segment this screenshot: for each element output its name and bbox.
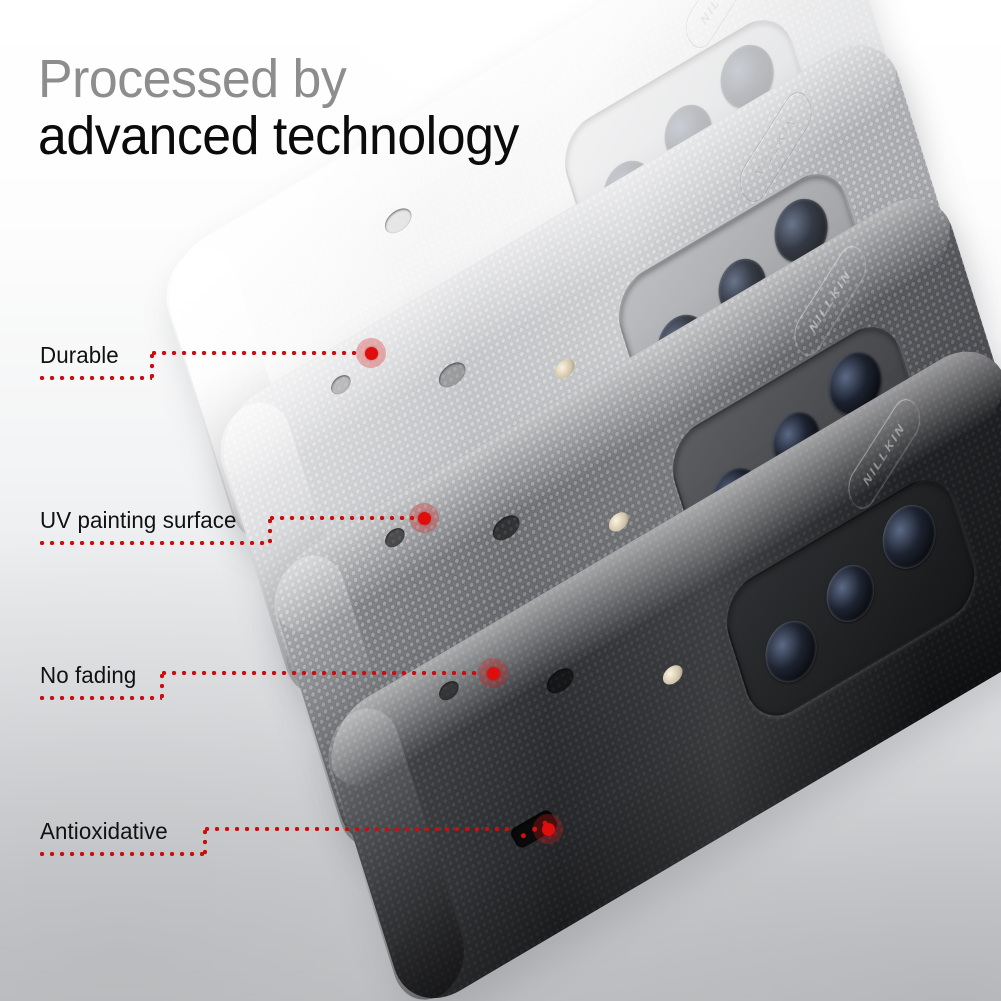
callout-underline [40, 541, 270, 545]
callout-underline [40, 696, 162, 700]
callout-marker [409, 503, 439, 533]
callout-leader-line [270, 516, 414, 520]
product-feature-graphic: NILLKIN NILLKIN [0, 0, 1001, 1001]
callout-marker [533, 814, 563, 844]
callout-underline [40, 852, 205, 856]
callout-label: UV painting surface [40, 507, 237, 534]
callout-elbow-vertical [150, 354, 154, 380]
callout-label: No fading [40, 662, 136, 689]
callout-leader-line [205, 827, 535, 831]
callout-elbow-vertical [268, 519, 272, 545]
callout-elbow-vertical [160, 674, 164, 700]
callout-marker [478, 658, 508, 688]
callout-label: Antioxidative [40, 818, 168, 845]
grille-dot [520, 832, 527, 839]
callout-leader-line [162, 671, 482, 675]
feature-callouts: Durable UV painting surface No fading An… [0, 0, 1001, 1001]
callout-label: Durable [40, 342, 119, 369]
callout-marker [356, 338, 386, 368]
callout-underline [40, 376, 152, 380]
callout-elbow-vertical [203, 830, 207, 856]
callout-leader-line [152, 351, 360, 355]
